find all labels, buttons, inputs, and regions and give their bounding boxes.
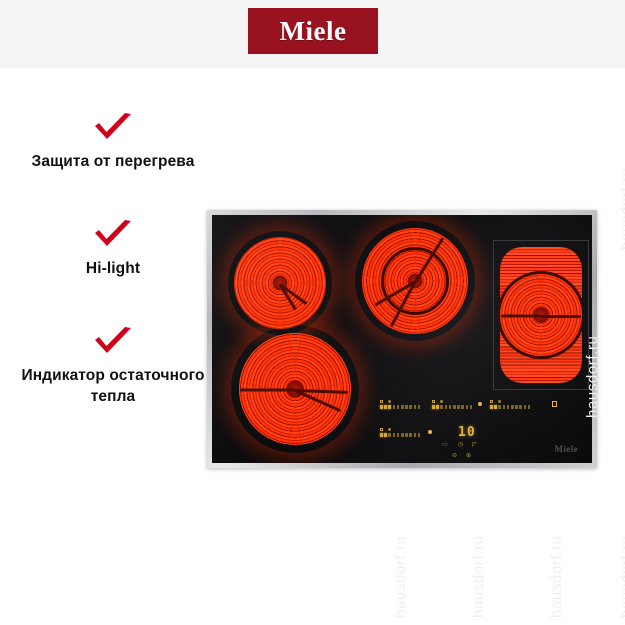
slider-tick[interactable]	[453, 405, 456, 408]
feature-label-overheat-protection: Защита от перегрева	[18, 152, 208, 173]
slider-tick[interactable]	[507, 405, 510, 408]
slider-tick[interactable]	[388, 405, 391, 408]
slider-tick[interactable]	[515, 405, 518, 408]
zone-dot-icon	[498, 400, 501, 403]
plus-icon[interactable]: ⊕	[466, 453, 471, 459]
slider-tick[interactable]	[388, 433, 391, 436]
feature-label-residual-heat-indicator: Индикатор остаточного тепла	[18, 366, 208, 408]
slider-tick[interactable]	[449, 405, 452, 408]
feature-label-hilight: Hi-light	[18, 259, 208, 280]
check-icon	[92, 219, 134, 251]
slider-tick[interactable]	[457, 405, 460, 408]
slider-tick[interactable]	[490, 405, 493, 408]
cooking-zone-front-left	[239, 333, 351, 445]
slider-tick[interactable]	[380, 433, 383, 436]
slider-tick[interactable]	[384, 433, 387, 436]
slider-zone-3[interactable]	[490, 400, 530, 409]
slider-3-scale[interactable]	[490, 405, 530, 408]
cooking-zone-right-extended	[500, 247, 582, 383]
feature-item-overheat-protection: Защита от перегрева	[18, 108, 208, 173]
slider-1-scale[interactable]	[380, 405, 420, 408]
check-icon-wrap	[18, 108, 208, 148]
cooktop-brand-mark: Miele	[555, 444, 579, 454]
slider-tick[interactable]	[528, 405, 531, 408]
zone-symbol-icon	[432, 400, 435, 403]
slider-tick[interactable]	[409, 433, 412, 436]
slider-tick[interactable]	[432, 405, 435, 408]
slider-tick[interactable]	[519, 405, 522, 408]
clock-icon[interactable]: ◷	[458, 442, 463, 448]
zone-dot-icon	[440, 400, 443, 403]
slider-tick[interactable]	[401, 433, 404, 436]
slider-tick[interactable]	[498, 405, 501, 408]
slider-tick[interactable]	[436, 405, 439, 408]
slider-tick[interactable]	[397, 433, 400, 436]
slider-tick[interactable]	[380, 405, 383, 408]
slider-tick[interactable]	[418, 405, 421, 408]
slider-tick[interactable]	[405, 405, 408, 408]
slider-4-indicators	[380, 428, 420, 431]
slider-tick[interactable]	[494, 405, 497, 408]
slider-tick[interactable]	[440, 405, 443, 408]
slider-tick[interactable]	[414, 433, 417, 436]
check-icon-wrap	[18, 215, 208, 255]
slider-tick[interactable]	[503, 405, 506, 408]
slider-1-indicators	[380, 400, 420, 403]
watermark: hausdorf.ru	[584, 336, 601, 418]
booster-indicator-icon[interactable]	[428, 430, 432, 434]
slider-zone-4[interactable]	[380, 428, 420, 437]
cooktop-frame: 10 ▭ ◷ ◸ ⊖ ⊕ Miele	[207, 210, 597, 468]
slider-tick[interactable]	[393, 405, 396, 408]
slider-tick[interactable]	[405, 433, 408, 436]
header-band: Miele	[0, 0, 625, 68]
miele-logo-text: Miele	[280, 18, 347, 45]
miele-logo: Miele	[248, 8, 378, 54]
slider-tick[interactable]	[409, 405, 412, 408]
zone-symbol-icon	[380, 428, 383, 431]
slider-zone-1[interactable]	[380, 400, 420, 409]
watermark: hausdorf.ru	[392, 536, 409, 618]
cooking-zone-rear-center	[362, 228, 468, 334]
zone-symbol-icon	[490, 400, 493, 403]
lock-icon[interactable]	[552, 401, 557, 407]
slider-tick[interactable]	[445, 405, 448, 408]
check-icon	[92, 326, 134, 358]
product-feature-card: Miele Защита от перегрева Hi-light	[0, 0, 625, 625]
feature-list: Защита от перегрева Hi-light Индикатор о…	[18, 108, 208, 450]
slider-tick[interactable]	[511, 405, 514, 408]
feature-item-hilight: Hi-light	[18, 215, 208, 280]
slider-tick[interactable]	[524, 405, 527, 408]
feature-item-residual-heat-indicator: Индикатор остаточного тепла	[18, 322, 208, 408]
slider-tick[interactable]	[401, 405, 404, 408]
watermark: hausdorf.ru	[618, 536, 625, 618]
zone-arm	[501, 315, 541, 318]
power-on-indicator-icon[interactable]	[478, 402, 482, 406]
slider-3-indicators	[490, 400, 530, 403]
zone-dot-icon	[388, 428, 391, 431]
zone-symbol-icon	[380, 400, 383, 403]
slider-tick[interactable]	[393, 433, 396, 436]
slider-tick[interactable]	[414, 405, 417, 408]
minus-icon[interactable]: ⊖	[452, 453, 457, 459]
watermark: hausdorf.ru	[470, 536, 487, 618]
slider-tick[interactable]	[384, 405, 387, 408]
zone-arm	[541, 315, 581, 318]
zone-dot-icon	[388, 400, 391, 403]
timer-icon[interactable]: ▭	[442, 442, 448, 448]
check-icon-wrap	[18, 322, 208, 362]
check-icon	[92, 112, 134, 144]
slider-tick[interactable]	[397, 405, 400, 408]
slider-2-indicators	[432, 400, 472, 403]
cooktop-glass-surface: 10 ▭ ◷ ◸ ⊖ ⊕ Miele	[212, 215, 592, 463]
slider-4-scale[interactable]	[380, 433, 420, 436]
slider-2-scale[interactable]	[432, 405, 472, 408]
cooking-zone-rear-left	[234, 237, 326, 329]
slider-tick[interactable]	[466, 405, 469, 408]
slider-tick[interactable]	[470, 405, 473, 408]
slider-tick[interactable]	[461, 405, 464, 408]
keep-warm-icon[interactable]: ◸	[472, 442, 477, 448]
touch-control-panel[interactable]: 10 ▭ ◷ ◸ ⊖ ⊕	[380, 400, 530, 462]
slider-zone-2[interactable]	[432, 400, 472, 409]
timer-display: 10	[458, 426, 476, 439]
watermark: hausdorf.ru	[548, 536, 565, 618]
watermark: hausdorf.ru	[618, 168, 625, 250]
slider-tick[interactable]	[418, 433, 421, 436]
zone-arm	[240, 389, 295, 392]
